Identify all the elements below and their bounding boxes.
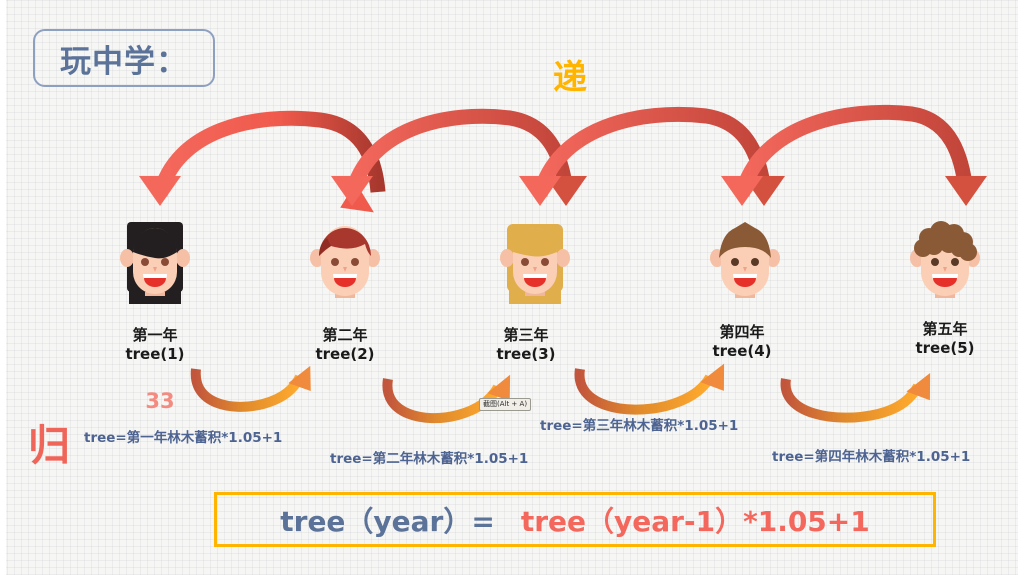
- year-label-5: 第五年: [875, 320, 1015, 339]
- label-year-5: 第五年 tree(5): [875, 320, 1015, 358]
- avatar-year-1: [107, 212, 203, 312]
- func-label-5: tree(5): [875, 339, 1015, 358]
- title-chip-label: 玩中学：: [60, 36, 188, 81]
- count-badge: 33: [130, 389, 190, 413]
- func-label-2: tree(2): [275, 345, 415, 364]
- avatar-year-2: [297, 212, 393, 312]
- recurrence-caption-2: tree=第二年林木蓄积*1.05+1: [330, 447, 528, 467]
- func-label-3: tree(3): [456, 345, 596, 364]
- func-label-1: tree(1): [85, 345, 225, 364]
- avatar-year-5: [897, 212, 993, 312]
- left-side-character: 归: [28, 412, 88, 473]
- recurrence-caption-4: tree=第四年林木蓄积*1.05+1: [772, 445, 970, 465]
- func-label-4: tree(4): [672, 342, 812, 361]
- label-year-4: 第四年 tree(4): [672, 323, 812, 361]
- heading-character: 递: [540, 50, 600, 99]
- label-year-1: 第一年 tree(1): [85, 326, 225, 364]
- year-label-1: 第一年: [85, 326, 225, 345]
- avatar-year-4: [697, 212, 793, 312]
- year-label-2: 第二年: [275, 326, 415, 345]
- title-chip: 玩中学：: [33, 29, 215, 87]
- formula-box: tree（year）= tree（year-1）*1.05+1: [214, 492, 936, 547]
- label-year-3: 第三年 tree(3): [456, 326, 596, 364]
- year-label-3: 第三年: [456, 326, 596, 345]
- formula-lhs: tree（year）=: [280, 500, 495, 540]
- year-label-4: 第四年: [672, 323, 812, 342]
- slide-left-edge: [0, 0, 6, 575]
- formula-rhs: tree（year-1）*1.05+1: [521, 500, 870, 540]
- label-year-2: 第二年 tree(2): [275, 326, 415, 364]
- snip-tool-tooltip: 截图(Alt + A): [479, 398, 531, 411]
- avatar-year-3: [487, 212, 583, 312]
- slide-right-edge: [1018, 0, 1024, 575]
- recurrence-caption-3: tree=第三年林木蓄积*1.05+1: [540, 414, 738, 434]
- recurrence-caption-1: tree=第一年林木蓄积*1.05+1: [84, 426, 282, 446]
